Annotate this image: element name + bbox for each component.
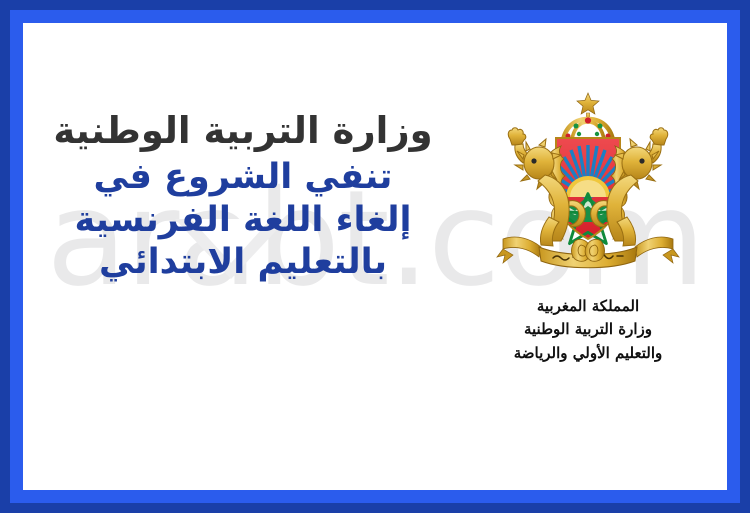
emblem-block: المملكة المغربية وزارة التربية الوطنية و… [463,23,713,365]
morocco-coat-of-arms-icon [483,89,693,289]
ministry-name-block: المملكة المغربية وزارة التربية الوطنية و… [463,295,713,365]
headline-block: وزارة التربية الوطنية تنفي الشروع في إلغ… [23,23,463,283]
headline-line-2: تنفي الشروع في [23,157,463,198]
headline-line-3: إلغاء اللغة الفرنسية [23,200,463,241]
headline-line-1: وزارة التربية الوطنية [23,110,463,153]
news-banner: arabt.com وزارة التربية الوطنية تنفي الش… [0,0,750,513]
banner-content: وزارة التربية الوطنية تنفي الشروع في إلغ… [23,23,727,490]
headline-line-4: بالتعليم الابتدائي [23,242,463,283]
ministry-line-2: وزارة التربية الوطنية [463,318,713,341]
banner-canvas: arabt.com وزارة التربية الوطنية تنفي الش… [23,23,727,490]
ministry-line-3: والتعليم الأولي والرياضة [463,342,713,365]
ministry-line-1: المملكة المغربية [463,295,713,318]
motto-ribbon-icon [497,237,679,268]
